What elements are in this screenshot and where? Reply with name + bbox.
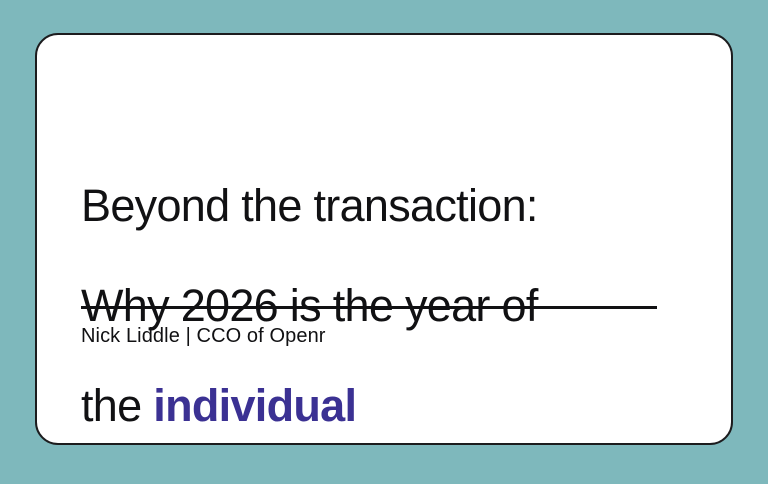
slide-card: Beyond the transaction: Why 2026 is the …: [35, 33, 733, 445]
title-line-1: Beyond the transaction:: [81, 181, 681, 231]
title-line-3: the individual: [81, 381, 681, 431]
presentation-slide: Beyond the transaction: Why 2026 is the …: [0, 0, 768, 484]
title-line-3-prefix: the: [81, 380, 153, 431]
slide-subtitle: Nick Liddle | CCO of Openr: [81, 322, 326, 350]
title-divider-rule: [81, 306, 657, 309]
slide-card-content: Beyond the transaction: Why 2026 is the …: [81, 35, 693, 443]
title-accent-word: individual: [153, 380, 356, 431]
